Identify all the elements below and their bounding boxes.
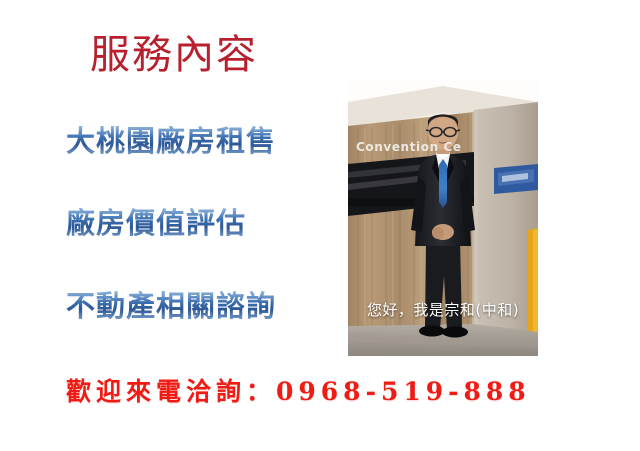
portrait-photo-graphic bbox=[348, 80, 538, 356]
page-title: 服務內容 bbox=[90, 32, 258, 78]
slide-canvas: 服務內容 大桃園廠房租售 廠房價值評估 不動產相關諮詢 歡迎來電洽詢：0968-… bbox=[0, 0, 640, 451]
contact-phone-line: 歡迎來電洽詢：0968-519-888 bbox=[66, 372, 531, 408]
service-list: 大桃園廠房租售 廠房價值評估 不動產相關諮詢 bbox=[66, 126, 326, 321]
portrait-photo: Convention Ce 您好，我是宗和(中和) bbox=[348, 80, 538, 356]
service-item-2: 廠房價值評估 bbox=[66, 208, 326, 238]
service-item-1: 大桃園廠房租售 bbox=[66, 126, 326, 156]
service-item-3: 不動產相關諮詢 bbox=[66, 291, 326, 321]
